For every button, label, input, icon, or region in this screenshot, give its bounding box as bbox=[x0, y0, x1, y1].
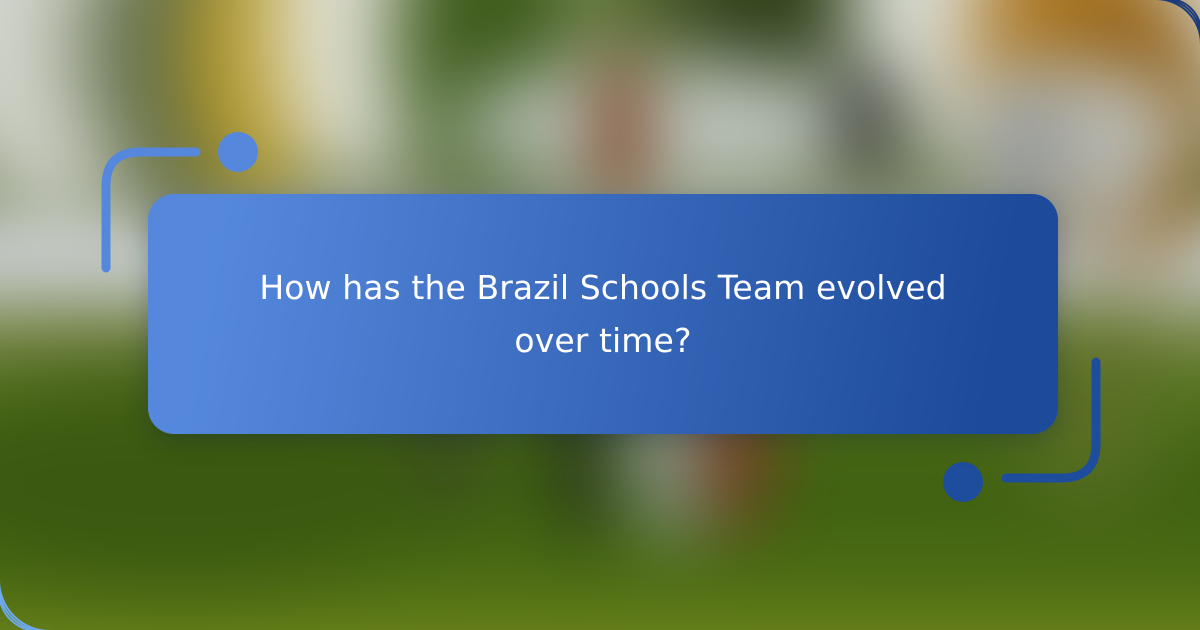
bg-blob bbox=[590, 50, 650, 210]
headline-text: How has the Brazil Schools Team evolved … bbox=[223, 261, 983, 368]
headline-card: How has the Brazil Schools Team evolved … bbox=[148, 194, 1058, 434]
bg-blob bbox=[450, 60, 870, 190]
corner-rules-bottom-left bbox=[0, 432, 248, 630]
corner-rule-line bbox=[0, 482, 150, 630]
poster-canvas: How has the Brazil Schools Team evolved … bbox=[0, 0, 1200, 630]
corner-rules-top-right bbox=[992, 0, 1200, 128]
corner-rule-line bbox=[1072, 0, 1200, 70]
accent-dot-bottom-right bbox=[943, 462, 983, 502]
bg-blob bbox=[830, 60, 900, 180]
accent-dot-top-left bbox=[218, 132, 258, 172]
